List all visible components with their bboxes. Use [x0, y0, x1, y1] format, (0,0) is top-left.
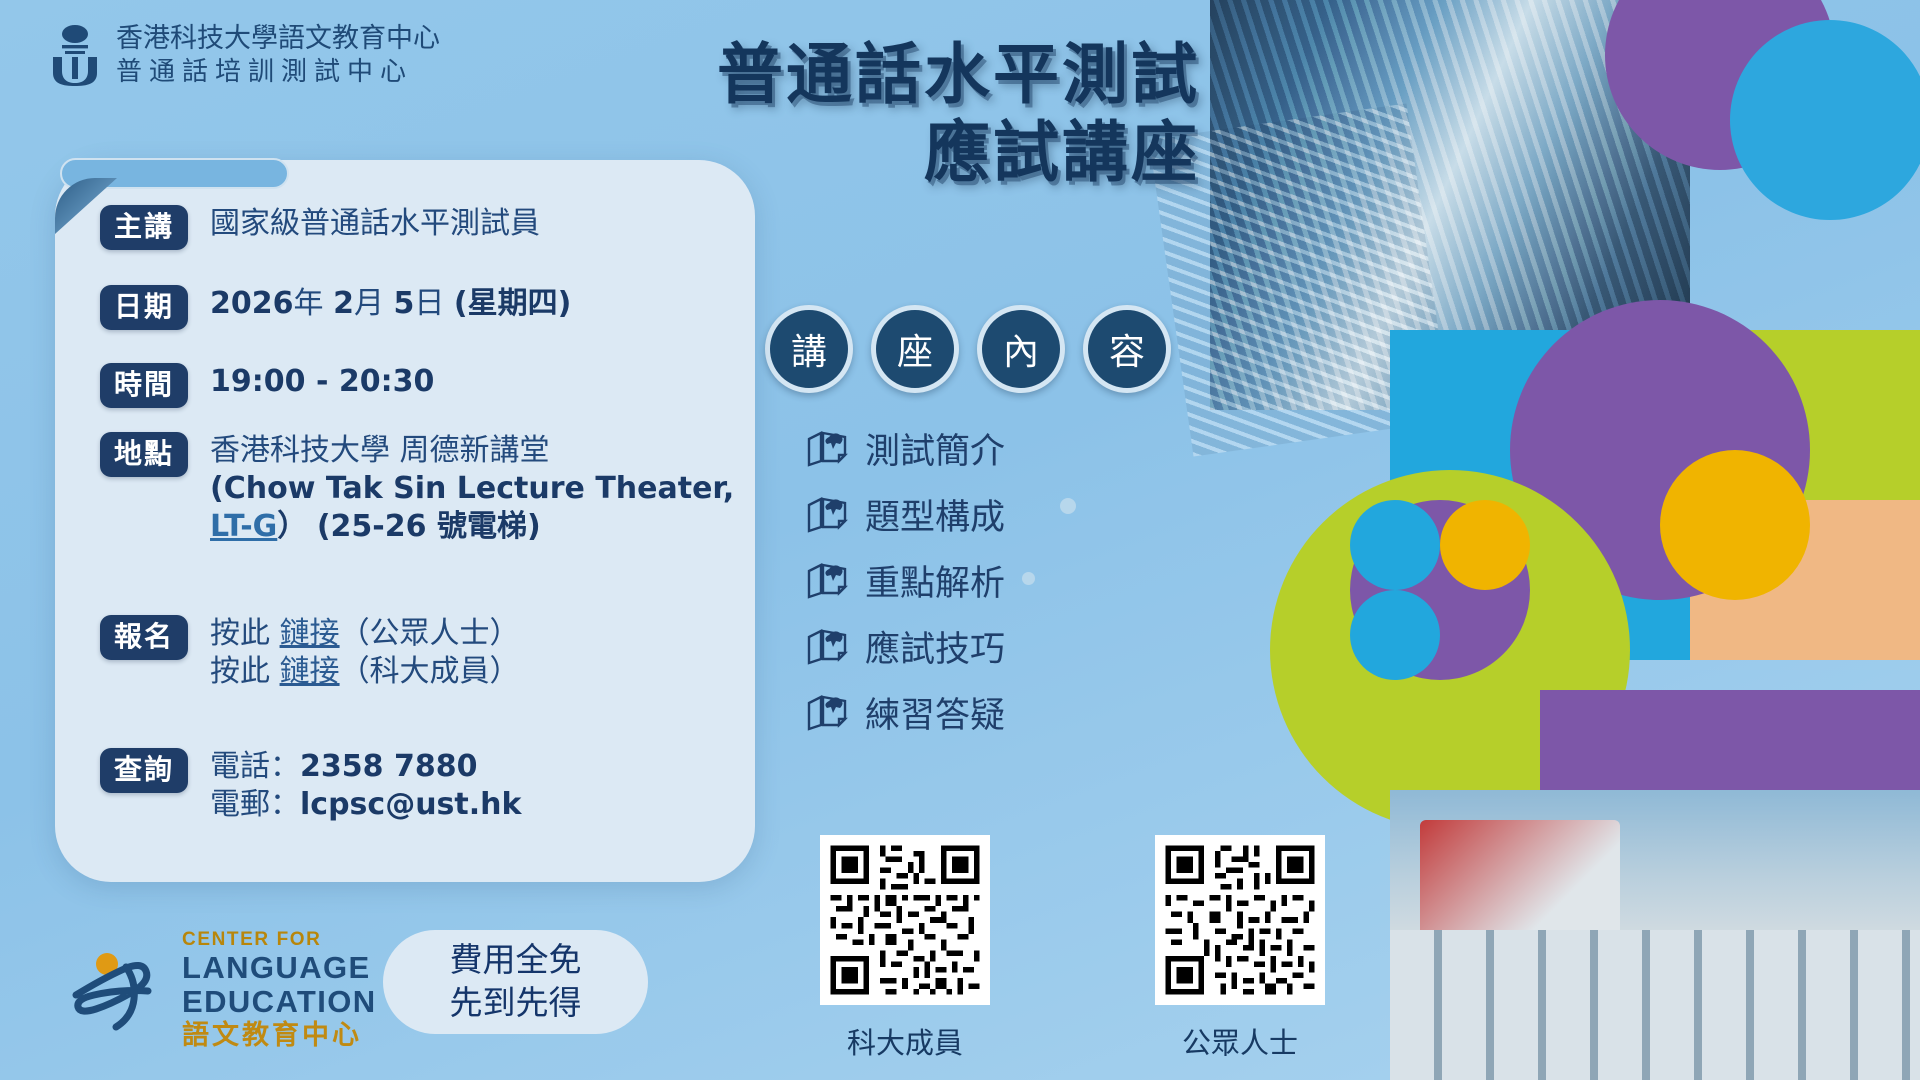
- enquiry-phone-label: 電話：: [210, 749, 300, 784]
- label-speaker: 主講: [100, 205, 188, 250]
- list-item-label: 練習答疑: [865, 687, 1005, 738]
- list-item-label: 重點解析: [865, 555, 1005, 606]
- deco-dot-1: [1060, 498, 1076, 514]
- chip-1: 座: [871, 305, 959, 393]
- cle-line-3: EDUCATION: [182, 986, 377, 1017]
- list-item-label: 應試技巧: [865, 621, 1005, 672]
- venue-line-2-text: (Chow Tak Sin Lecture Theater,: [210, 471, 734, 506]
- fee-line-1: 費用全免: [450, 939, 582, 982]
- fee-badge: 費用全免 先到先得: [383, 930, 648, 1034]
- chip-0: 講: [765, 305, 853, 393]
- pinned-note-icon: [805, 493, 849, 535]
- info-row-enquiry: 查詢 電話：2358 7880 電郵：lcpsc@ust.hk: [100, 748, 521, 824]
- deco-circle-blue-1: [1730, 20, 1920, 220]
- register-members-link[interactable]: 鏈接: [280, 654, 340, 689]
- cle-script-l-icon: [68, 947, 172, 1033]
- enquiry-phone-value: 2358 7880: [300, 749, 477, 784]
- venue-lift: (25-26 號電梯): [317, 509, 541, 544]
- deco-quarter-yellow-2: [1440, 500, 1530, 590]
- date-month: 2: [333, 286, 354, 321]
- date-month-unit: 月: [354, 286, 384, 321]
- poster-canvas: 香港科技大學語文教育中心 普通話培訓測試中心 普通話水平測試 應試講座 講 座 …: [0, 0, 1920, 1080]
- date-weekday: (星期四): [454, 286, 571, 321]
- cle-line-2: LANGUAGE: [182, 952, 377, 983]
- list-item-label: 測試簡介: [865, 423, 1005, 474]
- info-row-register: 報名 按此 鏈接（公眾人士） 按此 鏈接（科大成員）: [100, 615, 520, 691]
- list-item-label: 題型構成: [865, 489, 1005, 540]
- date-year-unit: 年: [294, 286, 324, 321]
- section-heading-chips: 講 座 內 容: [765, 305, 1171, 393]
- register-members-pre: 按此: [210, 654, 280, 689]
- pinned-note-icon: [805, 427, 849, 469]
- date-day-unit: 日: [414, 286, 444, 321]
- venue-line-1: 香港科技大學 周德新講堂: [210, 432, 734, 470]
- register-public-post: （公眾人士）: [340, 616, 520, 651]
- value-venue: 香港科技大學 周德新講堂 (Chow Tak Sin Lecture Theat…: [210, 432, 734, 545]
- cle-line-4: 語文教育中心: [182, 1022, 377, 1049]
- register-public-pre: 按此: [210, 616, 280, 651]
- chip-3: 容: [1083, 305, 1171, 393]
- pinned-note-icon: [805, 625, 849, 667]
- chip-2: 內: [977, 305, 1065, 393]
- date-year: 2026: [210, 286, 294, 321]
- qr-hkust-members[interactable]: 科大成員: [820, 835, 990, 1062]
- info-row-speaker: 主講 國家級普通話水平測試員: [100, 205, 540, 250]
- value-enquiry: 電話：2358 7880 電郵：lcpsc@ust.hk: [210, 748, 521, 824]
- brand-header: 香港科技大學語文教育中心 普通話培訓測試中心: [48, 22, 440, 88]
- qr-public[interactable]: 公眾人士: [1155, 835, 1325, 1062]
- enquiry-email-value[interactable]: lcpsc@ust.hk: [300, 787, 521, 822]
- venue-line-2: (Chow Tak Sin Lecture Theater,: [210, 470, 734, 508]
- value-time: 19:00 - 20:30: [210, 363, 434, 401]
- label-enquiry: 查詢: [100, 748, 188, 793]
- deco-dot-2: [1022, 572, 1035, 585]
- brand-line-1: 香港科技大學語文教育中心: [116, 22, 440, 56]
- qr-hkust-members-image[interactable]: [820, 835, 990, 1005]
- deco-quarter-cyan-2: [1350, 590, 1440, 680]
- info-row-time: 時間 19:00 - 20:30: [100, 363, 434, 408]
- title-line-1: 普通話水平測試: [640, 36, 1200, 114]
- value-speaker: 國家級普通話水平測試員: [210, 205, 540, 243]
- venue-paren: ）: [277, 509, 307, 544]
- register-public-link[interactable]: 鏈接: [280, 616, 340, 651]
- enquiry-email-row: 電郵：lcpsc@ust.hk: [210, 786, 521, 824]
- list-item: 題型構成: [805, 481, 1005, 547]
- qr-caption: 科大成員: [820, 1020, 990, 1062]
- value-register: 按此 鏈接（公眾人士） 按此 鏈接（科大成員）: [210, 615, 520, 691]
- campus-photo-bottom: [1390, 790, 1920, 1080]
- label-time: 時間: [100, 363, 188, 408]
- list-item: 測試簡介: [805, 415, 1005, 481]
- list-item: 練習答疑: [805, 679, 1005, 745]
- qr-public-image[interactable]: [1155, 835, 1325, 1005]
- enquiry-email-label: 電郵：: [210, 787, 300, 822]
- list-item: 應試技巧: [805, 613, 1005, 679]
- brand-line-2: 普通話培訓測試中心: [116, 56, 440, 89]
- register-row-members[interactable]: 按此 鏈接（科大成員）: [210, 653, 520, 691]
- pinned-note-icon: [805, 691, 849, 733]
- value-date: 2026年 2月 5日 (星期四): [210, 285, 571, 323]
- list-item: 重點解析: [805, 547, 1005, 613]
- qr-caption: 公眾人士: [1155, 1020, 1325, 1062]
- cle-line-1: CENTER FOR: [182, 930, 377, 949]
- deco-quarter-yellow-1: [1660, 450, 1810, 600]
- enquiry-phone-row: 電話：2358 7880: [210, 748, 521, 786]
- info-row-venue: 地點 香港科技大學 周德新講堂 (Chow Tak Sin Lecture Th…: [100, 432, 734, 545]
- cle-logo: CENTER FOR LANGUAGE EDUCATION 語文教育中心: [68, 930, 377, 1049]
- deco-quarter-cyan: [1350, 500, 1440, 590]
- fee-line-2: 先到先得: [450, 982, 582, 1025]
- register-members-post: （科大成員）: [340, 654, 520, 689]
- label-register: 報名: [100, 615, 188, 660]
- date-day: 5: [393, 286, 414, 321]
- label-venue: 地點: [100, 432, 188, 477]
- topic-list: 測試簡介 題型構成 重點解析: [805, 415, 1005, 745]
- time-text: 19:00 - 20:30: [210, 364, 434, 399]
- hkust-torch-icon: [48, 24, 102, 86]
- register-row-public[interactable]: 按此 鏈接（公眾人士）: [210, 615, 520, 653]
- info-row-date: 日期 2026年 2月 5日 (星期四): [100, 285, 571, 330]
- venue-lt-g-link[interactable]: LT-G: [210, 509, 277, 544]
- label-date: 日期: [100, 285, 188, 330]
- venue-line-3: LT-G） (25-26 號電梯): [210, 508, 734, 546]
- pinned-note-icon: [805, 559, 849, 601]
